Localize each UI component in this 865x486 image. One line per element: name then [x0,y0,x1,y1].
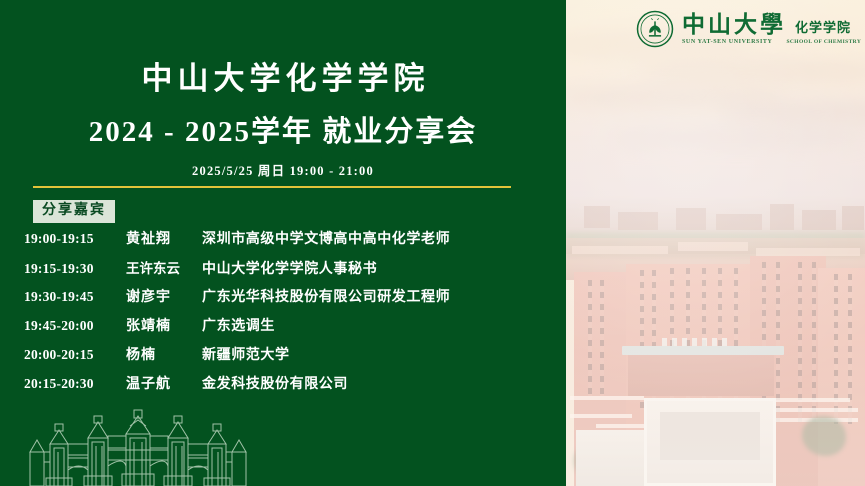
table-row: 19:15-19:30 王许东云 中山大学化学学院人事秘书 [24,257,554,286]
poster-canvas: 中山大學 化学学院 SUN YAT-SEN UNIVERSITY SCHOOL … [0,0,865,486]
mid-roof [756,248,860,256]
podium-block [628,352,774,396]
table-row: 19:45-20:00 张靖楠 广东选调生 [24,315,554,344]
table-row: 19:30-19:45 谢彦宇 广东光华科技股份有限公司研发工程师 [24,286,554,315]
row-affiliation: 新疆师范大学 [202,344,554,364]
paifang-gate-line-art-icon [22,408,254,486]
logo-university-name-cn: 中山大學 [682,13,786,36]
row-affiliation: 广东光华科技股份有限公司研发工程师 [202,286,554,306]
tree-canopy [802,416,846,456]
building-nameplate [662,338,730,346]
row-time: 20:00-20:15 [24,347,126,363]
cloud-band [606,128,865,148]
window-column [588,280,592,396]
page-title: 中山大学化学学院 [0,53,566,98]
row-speaker-name: 张靖楠 [126,315,202,335]
row-speaker-name: 温子航 [126,373,202,393]
far-building [584,206,610,228]
table-row: 19:00-19:15 黄祉翔 深圳市高级中学文博高中高中化学老师 [24,228,554,257]
row-time: 20:15-20:30 [24,376,126,392]
balcony-rail [570,414,632,418]
row-speaker-name: 黄祉翔 [126,228,202,248]
far-building [770,204,794,230]
row-affiliation: 金发科技股份有限公司 [202,373,554,393]
row-speaker-name: 王许东云 [126,257,202,277]
logo-university-name-en: SUN YAT-SEN UNIVERSITY [682,39,772,45]
speaker-schedule: 19:00-19:15 黄祉翔 深圳市高级中学文博高中高中化学老师 19:15-… [24,228,554,402]
far-building [618,212,658,230]
row-time: 19:45-20:00 [24,318,126,334]
balcony-rail [762,408,858,412]
row-affiliation: 广东选调生 [202,315,554,335]
rooftop-well [660,412,760,460]
row-affiliation: 深圳市高级中学文博高中高中化学老师 [202,228,554,248]
event-datetime: 2025/5/25 周日 19:00 - 21:00 [0,160,566,179]
logo-school-name-en: SCHOOL OF CHEMISTRY [786,39,861,45]
table-row: 20:00-20:15 杨楠 新疆师范大学 [24,344,554,373]
far-building [716,214,762,230]
podium-roof [622,346,784,355]
status-badge: 分享嘉宾 [33,200,115,223]
logo-school-name-cn: 化学学院 [795,21,851,36]
row-speaker-name: 谢彦宇 [126,286,202,306]
row-affiliation: 中山大学化学学院人事秘书 [202,258,554,278]
row-time: 19:15-19:30 [24,261,126,277]
event-subtitle: 2024 - 2025学年 就业分享会 [0,108,566,150]
campus-photo [566,0,865,486]
balcony-rail [570,396,644,400]
table-row: 20:15-20:30 温子航 金发科技股份有限公司 [24,373,554,402]
row-time: 19:30-19:45 [24,289,126,305]
row-speaker-name: 杨楠 [126,344,202,364]
far-building [802,210,836,230]
university-logo: 中山大學 化学学院 SUN YAT-SEN UNIVERSITY SCHOOL … [636,10,861,48]
sun-yat-sen-seal-icon [636,10,674,48]
mid-roof [678,242,748,251]
far-building [676,208,706,230]
gold-divider [33,186,511,188]
mid-roof [572,246,668,254]
row-time: 19:00-19:15 [24,231,126,247]
window-column [600,280,604,396]
far-building [842,206,864,230]
